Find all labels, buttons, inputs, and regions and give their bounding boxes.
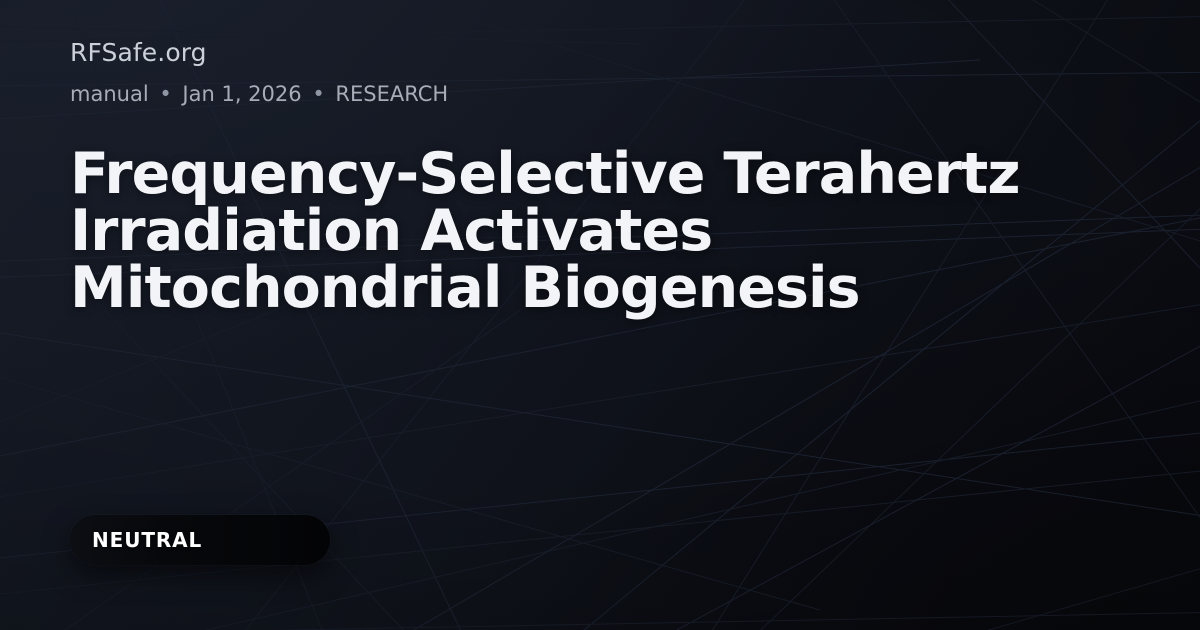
- meta-source: manual: [70, 82, 149, 106]
- site-name: RFSafe.org: [70, 38, 207, 68]
- meta-line: manual • Jan 1, 2026 • RESEARCH: [70, 82, 448, 107]
- badge-row: NEUTRAL: [70, 515, 330, 565]
- status-badge: NEUTRAL: [70, 515, 330, 565]
- page-title: Frequency-Selective Terahertz Irradiatio…: [70, 146, 1115, 317]
- meta-separator-2: •: [308, 82, 328, 106]
- status-badge-label: NEUTRAL: [92, 528, 202, 552]
- meta-separator-1: •: [155, 82, 175, 106]
- article-share-card: RFSafe.org manual • Jan 1, 2026 • RESEAR…: [0, 0, 1200, 630]
- headline-line-3: Mitochondrial Biogenesis: [70, 255, 860, 321]
- meta-category: RESEARCH: [335, 82, 448, 106]
- meta-date: Jan 1, 2026: [182, 82, 301, 106]
- card-content: RFSafe.org manual • Jan 1, 2026 • RESEAR…: [0, 0, 1200, 630]
